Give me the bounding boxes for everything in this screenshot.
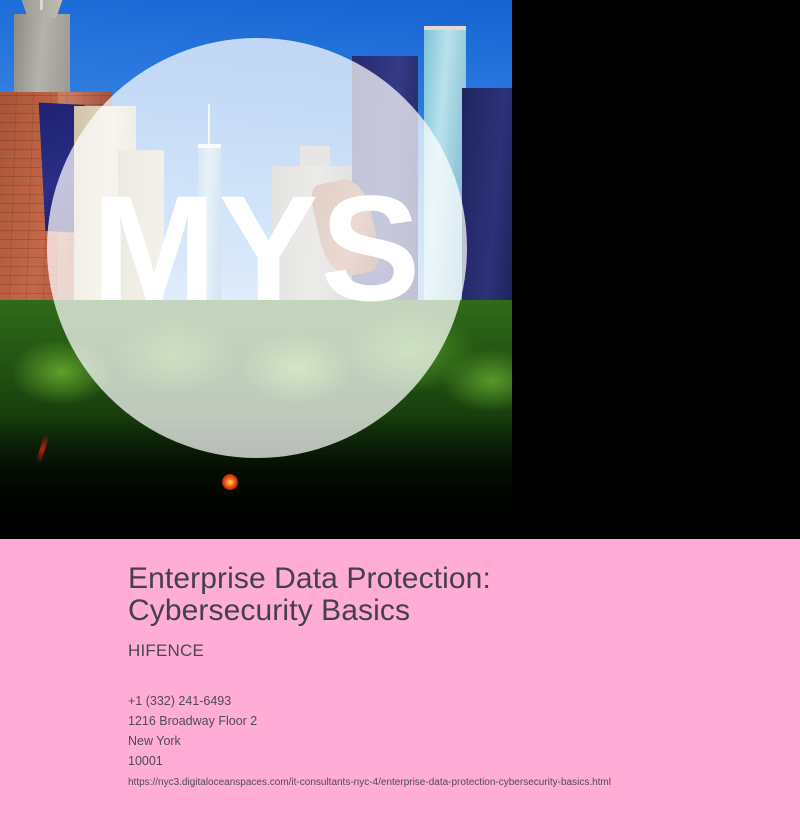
tower-antenna [40,0,43,10]
contact-block: +1 (332) 241-6493 1216 Broadway Floor 2 … [128,691,800,793]
content-panel: Enterprise Data Protection: Cybersecurit… [0,539,800,840]
contact-city: New York [128,731,800,751]
logo-circle-badge: MYS [47,38,467,458]
traffic-light-glow [222,474,238,490]
hero-photo: MYS [0,0,512,512]
content-panel-inner: Enterprise Data Protection: Cybersecurit… [0,539,800,793]
logo-text: MYS [91,173,422,323]
page-url[interactable]: https://nyc3.digitaloceanspaces.com/it-c… [128,773,800,793]
contact-street: 1216 Broadway Floor 2 [128,711,800,731]
contact-phone[interactable]: +1 (332) 241-6493 [128,691,800,711]
brand-name: HIFENCE [128,641,800,661]
page-title: Enterprise Data Protection: Cybersecurit… [128,563,648,627]
contact-postal-code: 10001 [128,751,800,771]
